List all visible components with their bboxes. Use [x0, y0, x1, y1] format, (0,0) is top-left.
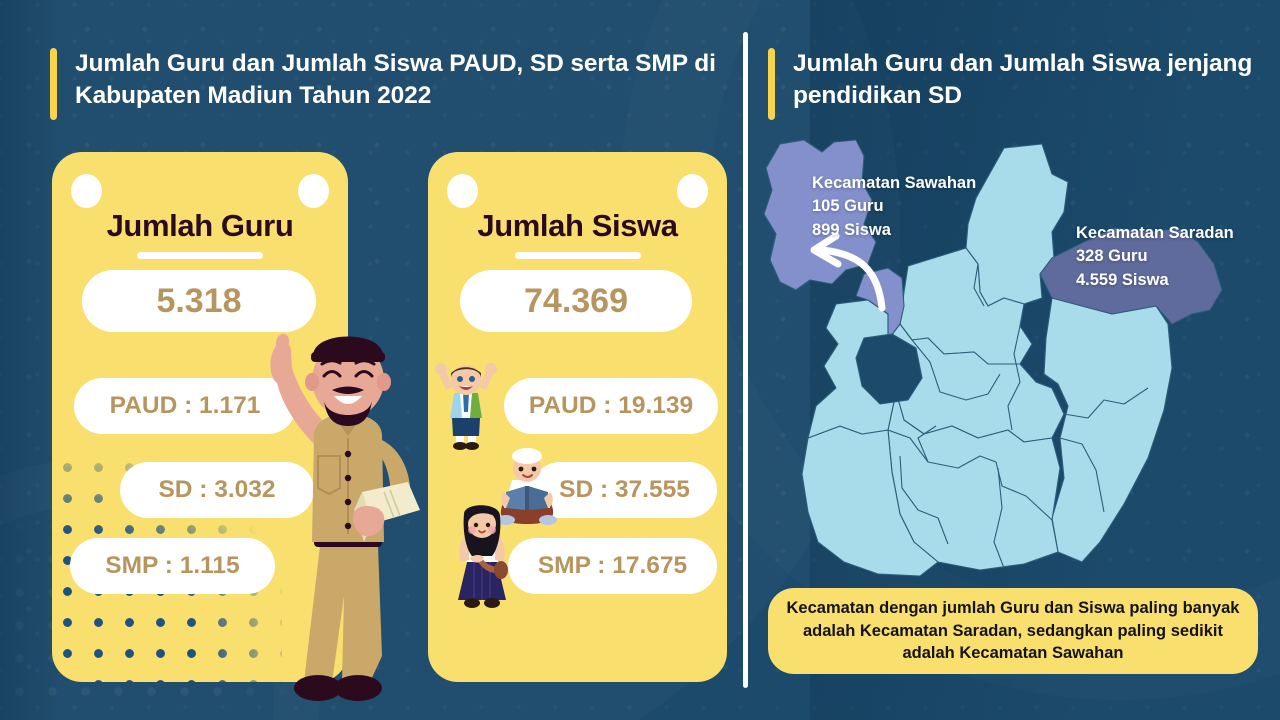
- map-label-saradan-teachers: 328 Guru: [1076, 245, 1234, 268]
- vertical-divider: [743, 32, 748, 688]
- card-punch-hole-left: [447, 174, 478, 208]
- card-guru-title: Jumlah Guru: [52, 208, 348, 244]
- card-guru-underline: [137, 252, 263, 259]
- map-label-sawahan-name: Kecamatan Sawahan: [812, 172, 976, 195]
- card-siswa-smp-value: SMP : 17.675: [508, 538, 717, 594]
- right-title-block: Jumlah Guru dan Jumlah Siswa jenjang pen…: [768, 48, 1258, 120]
- map-label-sawahan-students: 899 Siswa: [812, 219, 976, 242]
- card-siswa-underline: [515, 252, 641, 259]
- card-punch-hole-right: [298, 174, 329, 208]
- map-label-saradan-students: 4.559 Siswa: [1076, 269, 1234, 292]
- right-title-text: Jumlah Guru dan Jumlah Siswa jenjang pen…: [793, 48, 1258, 113]
- summary-note-box: Kecamatan dengan jumlah Guru dan Siswa p…: [768, 588, 1258, 674]
- teacher-illustration: [258, 296, 438, 708]
- left-title-text: Jumlah Guru dan Jumlah Siswa PAUD, SD se…: [75, 48, 740, 113]
- map-region-base-east: [1044, 298, 1172, 562]
- card-siswa-title: Jumlah Siswa: [428, 208, 727, 244]
- card-punch-hole-right: [677, 174, 708, 208]
- summary-note-text: Kecamatan dengan jumlah Guru dan Siswa p…: [784, 597, 1242, 665]
- map-label-sawahan-teachers: 105 Guru: [812, 195, 976, 218]
- map-label-saradan: Kecamatan Saradan 328 Guru 4.559 Siswa: [1076, 222, 1234, 292]
- card-guru-smp-value: SMP : 1.115: [70, 538, 275, 594]
- card-siswa-total-value: 74.369: [460, 270, 692, 332]
- card-punch-hole-left: [71, 174, 102, 208]
- map-label-saradan-name: Kecamatan Saradan: [1076, 222, 1234, 245]
- student-girl-illustration: [452, 500, 512, 610]
- right-title-accent-bar: [768, 48, 775, 120]
- left-title-accent-bar: [50, 48, 57, 120]
- map-label-sawahan: Kecamatan Sawahan 105 Guru 899 Siswa: [812, 172, 976, 242]
- student-cheering-illustration: [432, 360, 500, 450]
- left-title-block: Jumlah Guru dan Jumlah Siswa PAUD, SD se…: [50, 48, 740, 120]
- card-siswa-paud-value: PAUD : 19.139: [504, 378, 718, 434]
